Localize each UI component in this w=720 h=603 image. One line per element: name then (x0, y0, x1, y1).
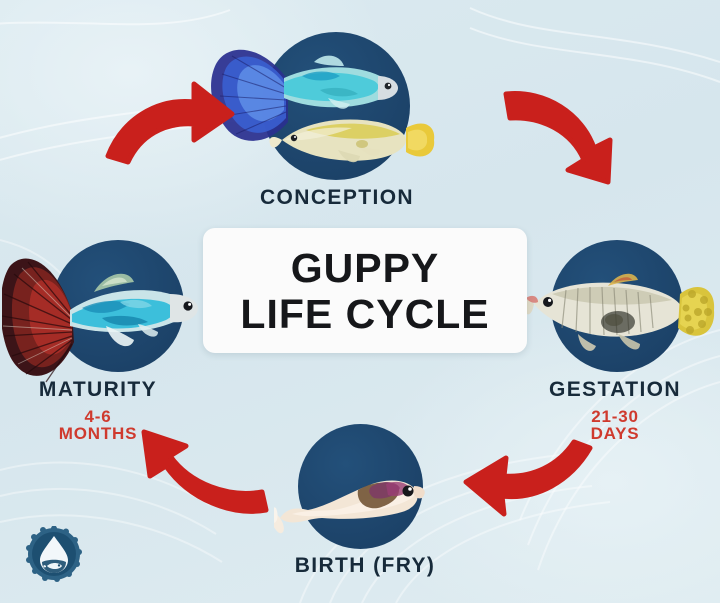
title-card: GUPPY LIFE CYCLE (203, 228, 527, 353)
stage-label: MATURITY (8, 378, 188, 402)
duration-line-2: MONTHS (59, 424, 137, 443)
infographic-canvas: CONCEPTION (0, 0, 720, 603)
title-line-2: LIFE CYCLE (240, 291, 489, 337)
water-droplet-fish-logo[interactable] (26, 526, 82, 582)
stage-label: CONCEPTION (252, 186, 422, 210)
duration-line-2: DAYS (591, 424, 640, 443)
title-line-1: GUPPY (291, 245, 440, 291)
arrow-birth-to-maturity (128, 418, 273, 528)
stage-birth[interactable]: BIRTH (FRY) (290, 424, 440, 584)
stage-conception[interactable]: CONCEPTION (252, 24, 422, 214)
stage-label: GESTATION (530, 378, 700, 402)
arrow-maturity-to-conception (98, 68, 238, 168)
stage-maturity[interactable]: MATURITY 4-6 MONTHS (16, 240, 196, 440)
stage-gestation[interactable]: GESTATION 21-30 DAYS (540, 240, 710, 440)
stage-label: BIRTH (FRY) (290, 554, 440, 578)
arrow-gestation-to-birth (462, 438, 597, 538)
arrow-conception-to-gestation (500, 70, 630, 185)
stage-duration: 21-30 DAYS (530, 408, 700, 442)
